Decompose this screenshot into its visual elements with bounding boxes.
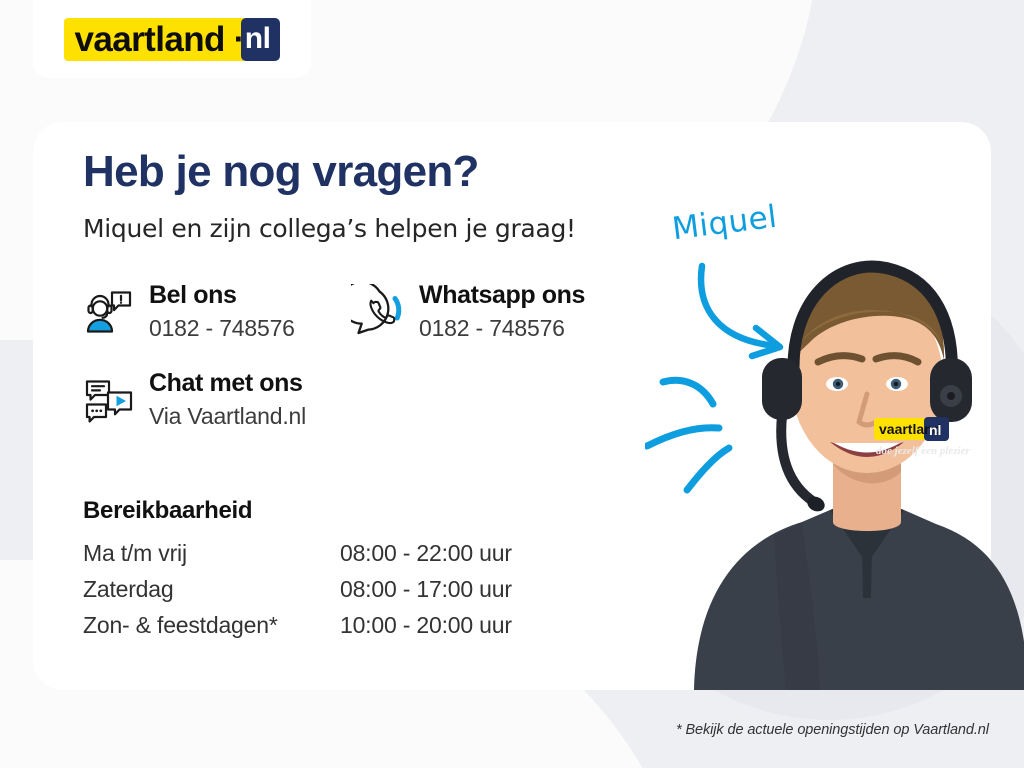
contact-text: Bel ons 0182 - 748576	[149, 282, 295, 342]
page-title: Heb je nog vragen?	[83, 150, 479, 194]
svg-text:nl: nl	[929, 422, 941, 438]
vaartland-logo[interactable]: vaartland · nl	[64, 18, 281, 61]
hours-heading: Bereikbaarheid	[83, 497, 252, 525]
brand-logo-plate[interactable]: vaartland · nl	[33, 0, 311, 78]
page-subtitle: Miquel en zijn collega’s helpen je graag…	[83, 214, 576, 243]
hours-table: Ma t/m vrij 08:00 - 22:00 uur Zaterdag 0…	[83, 540, 512, 648]
contact-title: Bel ons	[149, 282, 295, 310]
contact-chat-met-ons[interactable]: Chat met ons Via Vaartland.nl	[81, 370, 306, 430]
contact-title: Chat met ons	[149, 370, 306, 398]
curved-arrow-icon	[690, 258, 810, 373]
footnote-text: * Bekijk de actuele openingstijden op Va…	[676, 722, 989, 738]
whatsapp-icon	[351, 284, 407, 340]
hours-time: 08:00 - 17:00 uur	[340, 576, 512, 603]
hours-day: Ma t/m vrij	[83, 540, 340, 567]
hours-row: Ma t/m vrij 08:00 - 22:00 uur	[83, 540, 512, 567]
contact-whatsapp-ons[interactable]: Whatsapp ons 0182 - 748576	[351, 282, 585, 342]
contact-bel-ons[interactable]: Bel ons 0182 - 748576	[81, 282, 295, 342]
hours-time: 08:00 - 22:00 uur	[340, 540, 512, 567]
logo-tld: nl	[241, 18, 281, 61]
hours-row: Zaterdag 08:00 - 17:00 uur	[83, 576, 512, 603]
hours-time: 10:00 - 20:00 uur	[340, 612, 512, 639]
promo-banner: vaartland · nl Heb je nog vragen? Miquel…	[0, 0, 1024, 768]
hours-day: Zaterdag	[83, 576, 340, 603]
motion-swooshes-icon	[645, 360, 755, 505]
chat-bubbles-icon	[81, 372, 137, 428]
hours-day: Zon- & feestdagen*	[83, 612, 340, 639]
contact-text: Chat met ons Via Vaartland.nl	[149, 370, 306, 430]
contact-title: Whatsapp ons	[419, 282, 585, 310]
svg-text:doe jezelf een plezier: doe jezelf een plezier	[876, 445, 970, 457]
hours-row: Zon- & feestdagen* 10:00 - 20:00 uur	[83, 612, 512, 639]
contact-value[interactable]: 0182 - 748576	[419, 315, 585, 342]
logo-wordmark: vaartland	[64, 18, 234, 61]
headset-person-icon	[81, 284, 137, 340]
contact-value[interactable]: Via Vaartland.nl	[149, 403, 306, 430]
contact-value[interactable]: 0182 - 748576	[149, 315, 295, 342]
contact-text: Whatsapp ons 0182 - 748576	[419, 282, 585, 342]
